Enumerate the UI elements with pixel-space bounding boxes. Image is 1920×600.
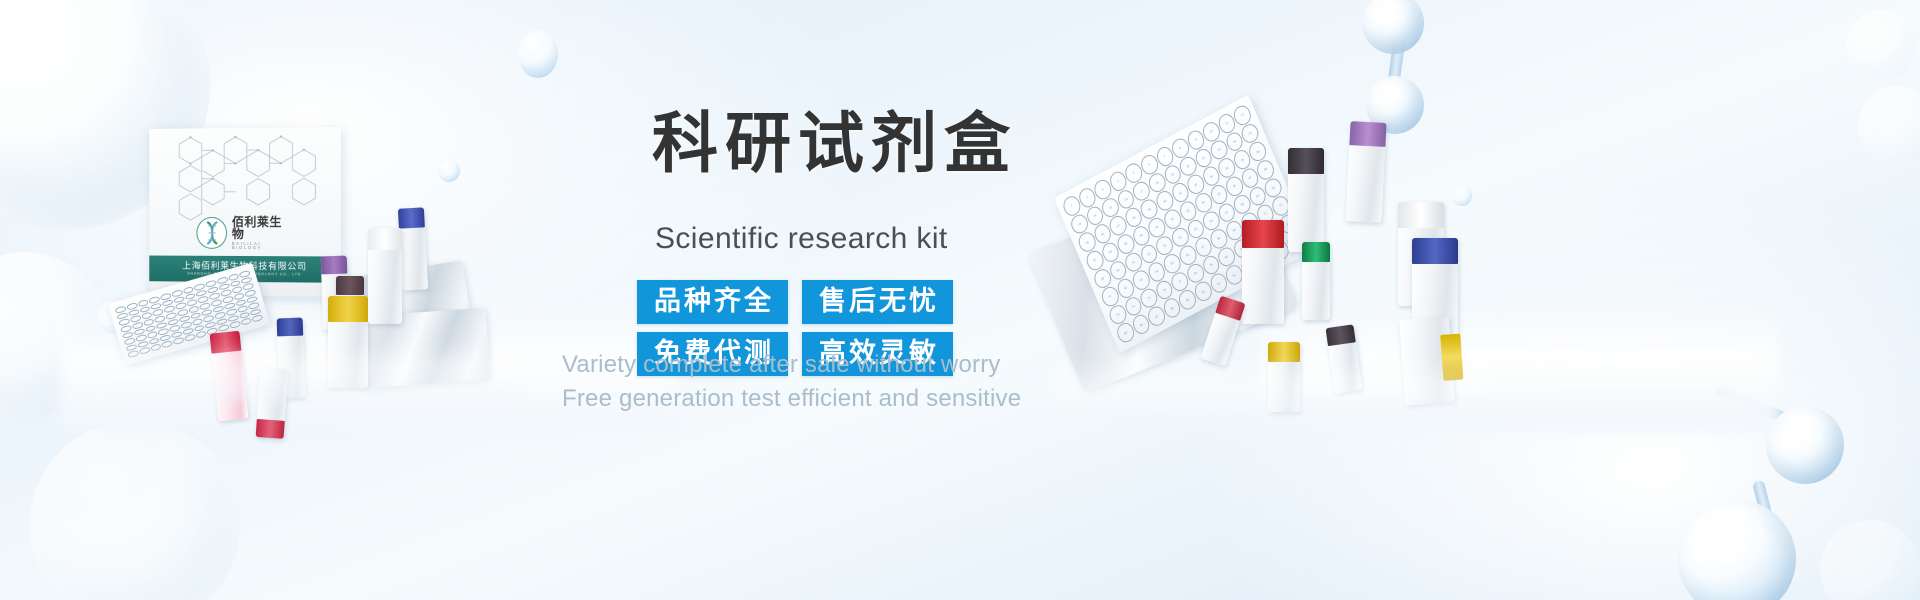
feature-badge-variety[interactable]: 品种齐全 (637, 280, 788, 324)
feature-badge-aftersale[interactable]: 售后无忧 (802, 280, 953, 324)
promo-banner: 佰利莱生物 BAILILAI BIOLOGY 上海佰利莱生物科技有限公司 SHA… (0, 0, 1920, 600)
tagline-line-2: Free generation test efficient and sensi… (562, 382, 1322, 416)
tagline: Variety complete after sale without worr… (562, 348, 1322, 416)
page-title: 科研试剂盒 (652, 110, 1252, 176)
feature-badge-row-1: 品种齐全 售后无忧 (637, 280, 957, 324)
tagline-line-1: Variety complete after sale without worr… (562, 348, 1322, 382)
page-subtitle: Scientific research kit (655, 224, 1255, 254)
banner-copy: 科研试剂盒 Scientific research kit 品种齐全 售后无忧 … (0, 0, 1920, 600)
